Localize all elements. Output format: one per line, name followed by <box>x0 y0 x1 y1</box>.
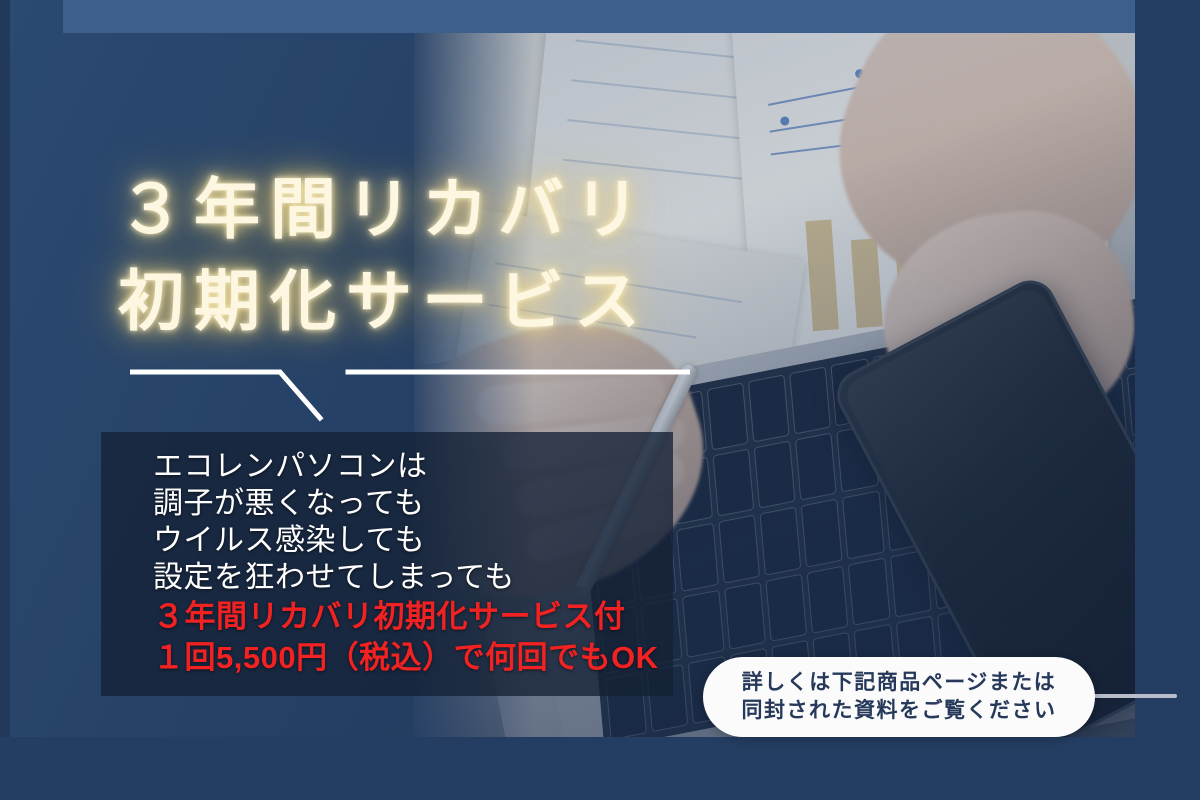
callout-tail-line <box>1085 694 1177 698</box>
bracket-pointer-line <box>130 366 690 430</box>
body-line-highlight: ３年間リカバリ初期化サービス付 <box>101 596 673 637</box>
body-line-highlight: １回5,500円（税込）で何回でもOK <box>101 637 673 678</box>
callout-line-1: 詳しくは下記商品ページまたは <box>742 669 1057 697</box>
body-text-panel: エコレンパソコンは 調子が悪くなっても ウイルス感染しても 設定を狂わせてしまっ… <box>101 432 673 696</box>
bottom-edge-strip <box>0 737 1200 800</box>
callout-line-2: 同封された資料をご覧ください <box>742 697 1057 725</box>
top-accent-band <box>63 0 1135 33</box>
callout-pill[interactable]: 詳しくは下記商品ページまたは 同封された資料をご覧ください <box>703 657 1095 737</box>
right-edge-strip <box>1135 0 1200 800</box>
left-edge-strip <box>0 0 10 800</box>
body-line: ウイルス感染しても <box>101 522 673 559</box>
body-line: 設定を狂わせてしまっても <box>101 559 673 596</box>
body-line: エコレンパソコンは <box>101 448 673 485</box>
promo-banner: ３年間リカバリ 初期化サービス エコレンパソコンは 調子が悪くなっても ウイルス… <box>0 0 1200 800</box>
body-line: 調子が悪くなっても <box>101 485 673 522</box>
